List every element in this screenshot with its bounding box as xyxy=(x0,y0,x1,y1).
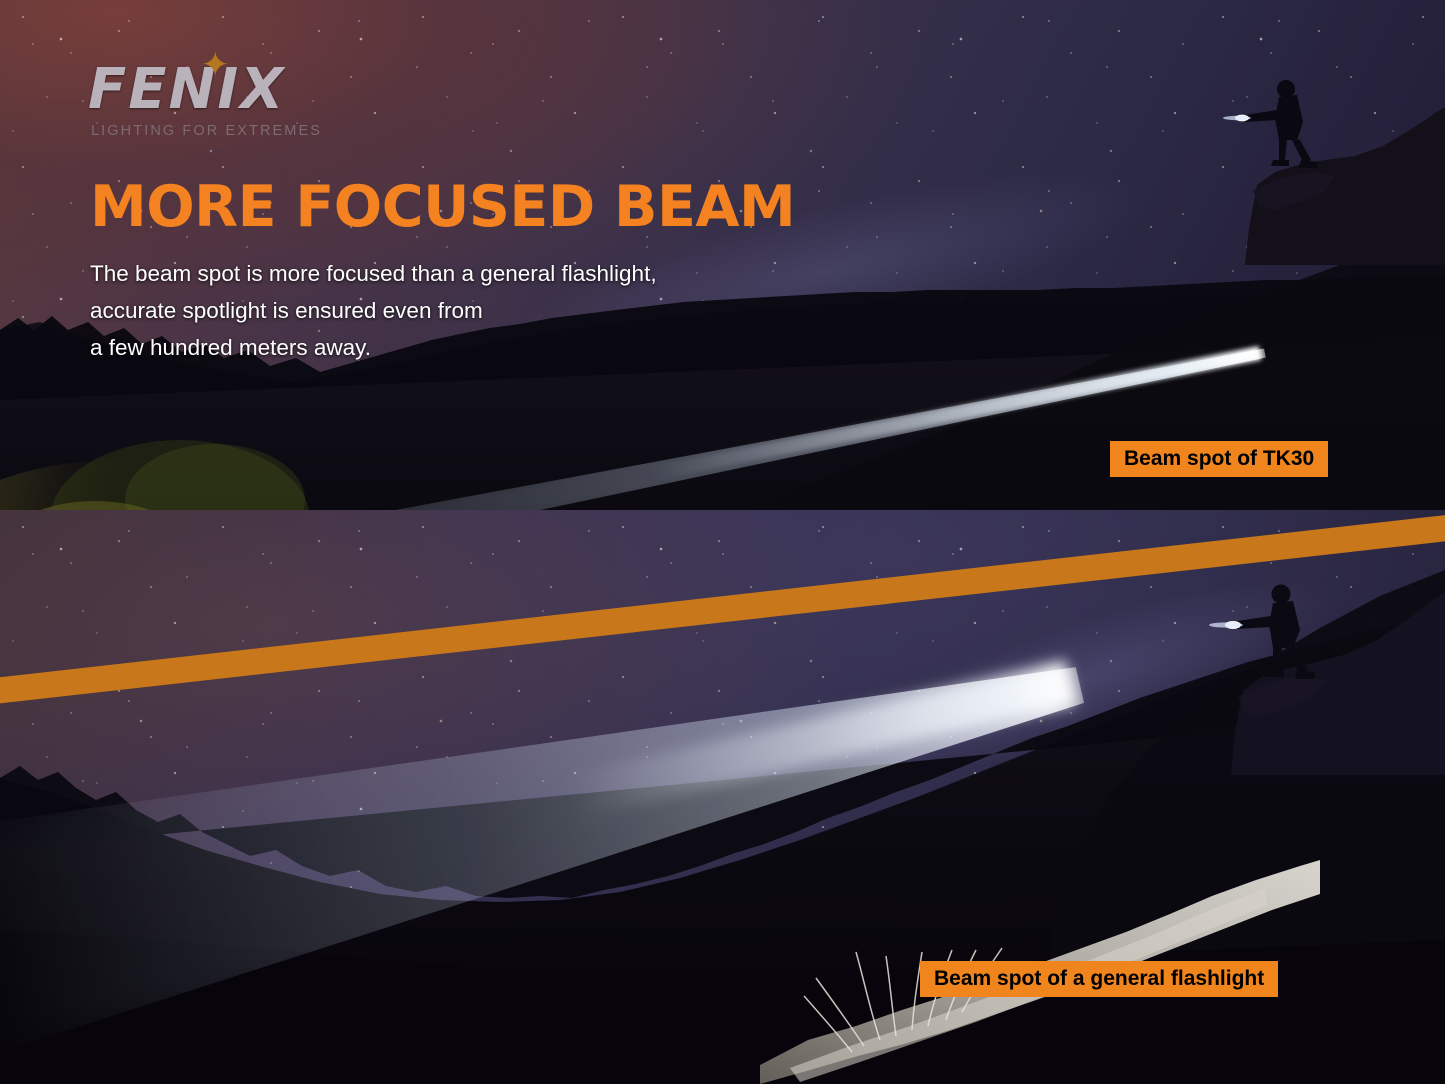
logo-tagline: LIGHTING FOR EXTREMES xyxy=(91,123,322,139)
star-icon: ✦ xyxy=(201,48,230,82)
description-line-3: a few hundred meters away. xyxy=(90,329,657,366)
fenix-logo: FENIX ✦ LIGHTING FOR EXTREMES xyxy=(88,62,322,139)
description-text: The beam spot is more focused than a gen… xyxy=(90,255,657,366)
climber-figure-top xyxy=(1205,60,1445,265)
description-line-2: accurate spotlight is ensured even from xyxy=(90,292,657,329)
promo-poster: FENIX ✦ LIGHTING FOR EXTREMES MORE FOCUS… xyxy=(0,0,1445,1084)
page-title: MORE FOCUSED BEAM xyxy=(90,178,795,238)
description-line-1: The beam spot is more focused than a gen… xyxy=(90,255,657,292)
climber-figure-bottom xyxy=(1185,550,1445,775)
badge-beam-spot-general-flashlight: Beam spot of a general flashlight xyxy=(920,961,1278,997)
badge-beam-spot-tk30: Beam spot of TK30 xyxy=(1110,441,1328,477)
